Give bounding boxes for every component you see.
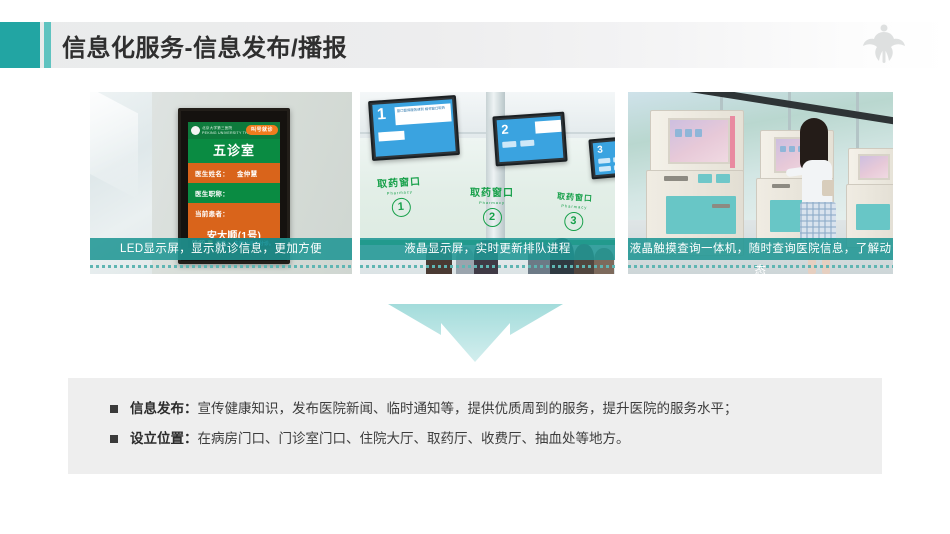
queue-chip-g: [614, 164, 615, 170]
photo-card-led-display[interactable]: 北京大学第三医院 PEKING UNIVERSITY THIRD HOSPITA…: [90, 92, 352, 292]
kiosk-1-printer-slot: [712, 204, 730, 208]
pharmacy-window-sign-2: 取药窗口 Pharmacy 2: [470, 184, 514, 227]
square-bullet-icon: [110, 405, 118, 413]
caption-dashed-underline-1: [90, 265, 352, 268]
pharmacy-window-2-subtitle: Pharmacy: [470, 200, 514, 205]
page-title: 信息化服务-信息发布/播报: [62, 22, 347, 68]
kiosk-1-teal-panel: [666, 196, 736, 234]
pharmacy-window-1-number: 1: [391, 197, 411, 217]
bullet-2-separator: ：: [184, 431, 198, 446]
description-panel: 信息发布：宣传健康知识，发布医院新闻、临时通知等，提供优质周到的服务，提升医院的…: [68, 378, 882, 474]
kiosk-1-screen-icons: [675, 129, 702, 137]
bullet-1-label: 信息发布: [130, 401, 184, 416]
bullet-1-body: 宣传健康知识，发布医院新闻、临时通知等，提供优质周到的服务，提升医院的服务水平；: [198, 401, 738, 416]
led-label-current-patient: 当前患者：: [195, 208, 229, 218]
photo-card-pharmacy-lcd[interactable]: 1 窗口暂停服务请到 相邻窗口取药 2: [360, 92, 615, 292]
pharmacy-window-1-title: 取药窗口: [377, 173, 422, 191]
kiosk-1-button-b[interactable]: [716, 174, 730, 183]
led-value-doctor-name: 金仲慧: [237, 168, 257, 178]
list-item: 信息发布：宣传健康知识，发布医院新闻、临时通知等，提供优质周到的服务，提升医院的…: [110, 400, 738, 418]
queue-chip-b: [520, 140, 534, 147]
queue-chip-a: [502, 141, 516, 148]
header-accent-block: [0, 22, 40, 68]
kiosk-3: [846, 148, 893, 248]
caption-dashed-underline-2: [360, 265, 615, 268]
pharmacy-window-2-number: 2: [483, 208, 502, 227]
kiosk-2-card-slot: [772, 184, 790, 188]
led-row-doctor-title: 医生职称：: [188, 183, 280, 203]
kiosk-1-touchscreen: [668, 118, 730, 164]
kiosk-1-button-a[interactable]: [698, 174, 712, 183]
kiosk-icon-b: [685, 129, 692, 137]
photo-row: 北京大学第三医院 PEKING UNIVERSITY THIRD HOSPITA…: [0, 92, 950, 292]
header-accent-bar: [44, 22, 51, 68]
square-bullet-icon: [110, 435, 118, 443]
queue-display-1-screen: 1 窗口暂停服务请到 相邻窗口取药: [372, 99, 455, 156]
pharmacy-window-sign-3: 取药窗口 Pharmacy 3: [555, 191, 594, 232]
kiosk-3-teal-panel: [856, 204, 890, 230]
queue-display-2-screen: 2: [497, 116, 564, 162]
photo-caption-3: 液晶触摸查询一体机，随时查询医院信息，了解动态: [628, 238, 893, 260]
queue-display-3-number: 3: [597, 144, 604, 155]
queue-display-1-sub-panel: [378, 131, 405, 142]
led-status-badge: 叫号就诊: [246, 125, 278, 135]
photo-caption-1: LED显示屏，显示就诊信息，更加方便: [90, 238, 352, 260]
kiosk-icon-d: [780, 146, 786, 152]
led-screen-header: 北京大学第三医院 PEKING UNIVERSITY THIRD HOSPITA…: [188, 122, 280, 139]
down-arrow-icon: [388, 302, 563, 364]
kiosk-icon-e: [789, 146, 795, 152]
bullet-2-label: 设立位置: [130, 431, 184, 446]
kiosk-icon-a: [675, 129, 682, 137]
queue-display-3: 3: [588, 135, 615, 180]
photo-caption-2: 液晶显示屏，实时更新排队进程: [360, 238, 615, 260]
kiosk-icon-c: [695, 129, 702, 137]
led-room-title: 五诊室: [188, 139, 280, 163]
queue-display-2: 2: [492, 112, 567, 167]
pharmacy-window-2-title: 取药窗口: [470, 184, 514, 199]
hospital-tree-logo-icon: [858, 20, 910, 70]
pharmacy-lcd-photo: 1 窗口暂停服务请到 相邻窗口取药 2: [360, 92, 615, 274]
kiosk-1-card-slot: [664, 176, 688, 181]
bullet-1-separator: ：: [184, 401, 198, 416]
bullet-list: 信息发布：宣传健康知识，发布医院新闻、临时通知等，提供优质周到的服务，提升医院的…: [110, 400, 738, 460]
queue-chip-f: [599, 166, 611, 172]
queue-chip-c: [598, 158, 610, 164]
led-label-doctor-title: 医生职称：: [195, 188, 229, 198]
queue-display-2-number: 2: [501, 121, 509, 136]
slide-header: 信息化服务-信息发布/播报: [0, 22, 950, 68]
photo-card-kiosk[interactable]: 液晶触摸查询一体机，随时查询医院信息，了解动态: [628, 92, 893, 292]
led-room-display-photo: 北京大学第三医院 PEKING UNIVERSITY THIRD HOSPITA…: [90, 92, 352, 274]
queue-chip-d: [613, 156, 615, 162]
person-handbag: [822, 180, 834, 196]
led-row-current-patient-label: 当前患者：: [188, 203, 280, 223]
pharmacy-window-3-number: 3: [563, 211, 583, 231]
led-display-screen: 北京大学第三医院 PEKING UNIVERSITY THIRD HOSPITA…: [188, 122, 280, 248]
slide-root: 信息化服务-信息发布/播报: [0, 0, 950, 534]
queue-display-1: 1 窗口暂停服务请到 相邻窗口取药: [368, 95, 460, 161]
queue-display-1-number: 1: [376, 106, 386, 125]
bullet-2-text: 设立位置：在病房门口、门诊室门口、住院大厅、取药厅、收费厅、抽血处等地方。: [130, 430, 630, 448]
kiosk-3-touchscreen: [858, 154, 890, 180]
led-label-doctor-name: 医生姓名：: [195, 168, 229, 178]
kiosk-1: [646, 110, 748, 256]
led-row-doctor-name: 医生姓名： 金仲慧: [188, 163, 280, 183]
bullet-2-body: 在病房门口、门诊室门口、住院大厅、取药厅、收费厅、抽血处等地方。: [198, 431, 630, 446]
self-service-kiosk-photo: 液晶触摸查询一体机，随时查询医院信息，了解动态: [628, 92, 893, 274]
queue-display-3-screen: 3: [593, 139, 615, 175]
queue-display-2-notice-panel: [535, 120, 564, 134]
bullet-1-text: 信息发布：宣传健康知识，发布医院新闻、临时通知等，提供优质周到的服务，提升医院的…: [130, 400, 738, 418]
pharmacy-window-sign-1: 取药窗口 Pharmacy 1: [377, 173, 424, 219]
kiosk-1-side-stripe: [730, 116, 735, 168]
hospital-logo-icon: [191, 126, 200, 135]
list-item: 设立位置：在病房门口、门诊室门口、住院大厅、取药厅、收费厅、抽血处等地方。: [110, 430, 738, 448]
glass-glare: [90, 92, 138, 199]
